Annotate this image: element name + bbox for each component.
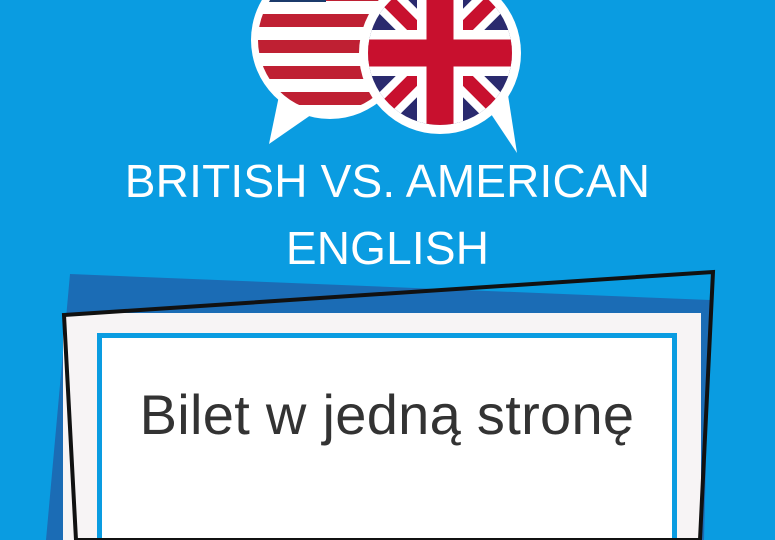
slide: BRITISH VS. AMERICAN ENGLISH Bilet w jed… bbox=[0, 0, 775, 540]
term-card: Bilet w jedną stronę bbox=[0, 255, 775, 540]
term-text: Bilet w jedną stronę bbox=[102, 384, 672, 446]
speech-bubbles-emblem bbox=[225, 0, 550, 153]
title-line-1: BRITISH VS. AMERICAN bbox=[0, 148, 775, 215]
uk-flag-bubble bbox=[359, 0, 521, 153]
card-inner-panel: Bilet w jedną stronę bbox=[97, 333, 677, 540]
